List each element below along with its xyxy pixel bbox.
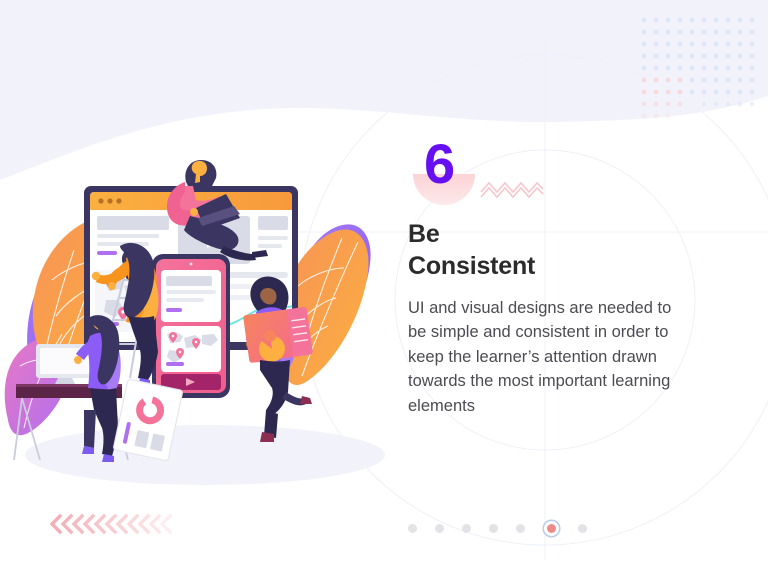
pagination-dot-6-active[interactable] xyxy=(547,524,556,533)
content-panel: 6 Be Consistent UI and visual designs ar… xyxy=(408,140,708,418)
pagination-dot-3[interactable] xyxy=(462,524,471,533)
pagination-dots[interactable] xyxy=(408,519,587,537)
slide-canvas: 6 Be Consistent UI and visual designs ar… xyxy=(0,0,768,580)
hero-illustration xyxy=(0,120,400,480)
squiggle-icon xyxy=(480,178,544,198)
page-title: Be Consistent xyxy=(408,218,658,282)
whiteboard-chart xyxy=(113,379,183,461)
pagination-dot-7[interactable] xyxy=(578,524,587,533)
headline-line-2: Consistent xyxy=(408,252,535,280)
slide-number: 6 xyxy=(424,136,454,192)
headline-line-1: Be xyxy=(408,220,440,248)
pagination-dot-1[interactable] xyxy=(408,524,417,533)
pagination-dot-2[interactable] xyxy=(435,524,444,533)
phone xyxy=(152,254,230,398)
pagination-dot-4[interactable] xyxy=(489,524,498,533)
slide-number-block: 6 xyxy=(408,140,708,218)
chevron-arrows-decoration xyxy=(48,510,174,538)
pagination-dot-5[interactable] xyxy=(516,524,525,533)
body-text: UI and visual designs are needed to be s… xyxy=(408,296,693,418)
